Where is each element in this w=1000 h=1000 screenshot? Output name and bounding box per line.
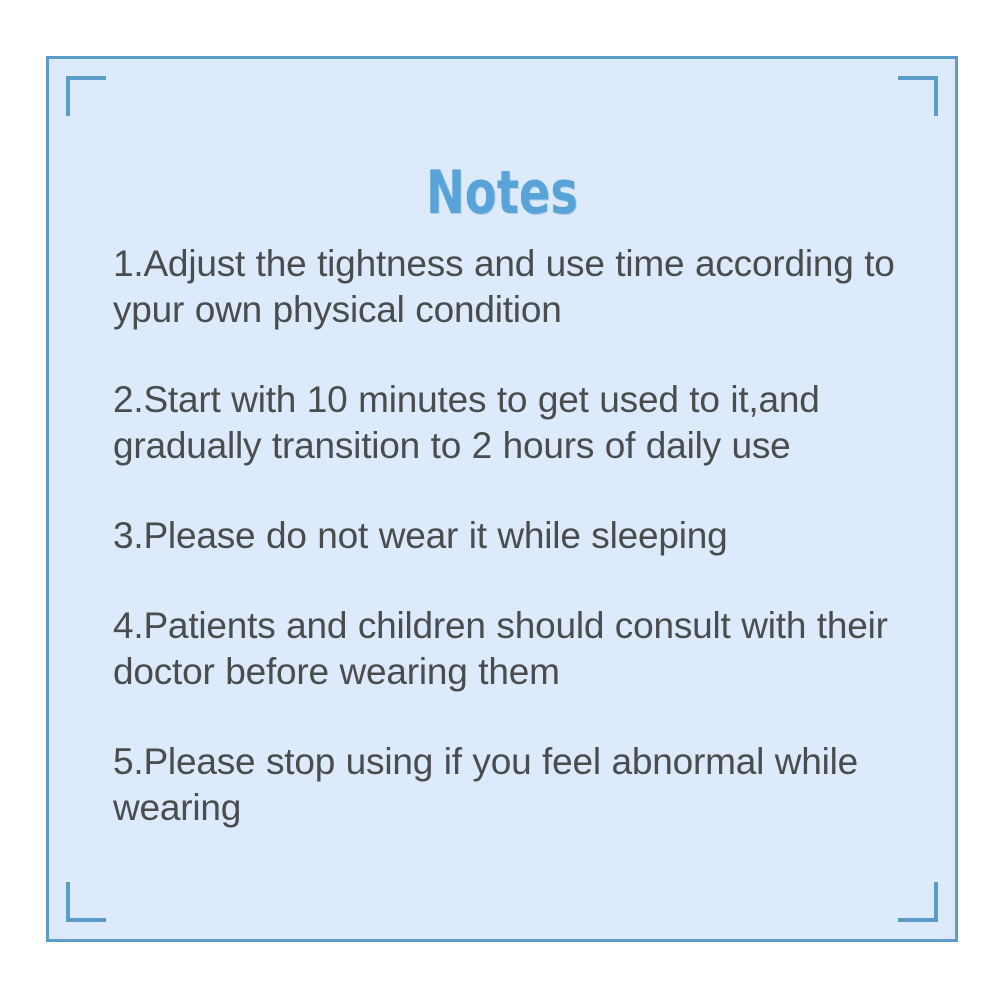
list-item: 4.Patients and children should consult w… [113,603,907,695]
list-item: 5.Please stop using if you feel abnormal… [113,739,907,831]
notes-list: 1.Adjust the tightness and use time acco… [113,241,907,831]
notes-panel: Notes 1.Adjust the tightness and use tim… [46,56,958,942]
corner-bracket-top-left-icon [66,76,106,116]
corner-bracket-top-right-icon [898,76,938,116]
corner-bracket-bottom-left-icon [66,882,106,922]
list-item: 3.Please do not wear it while sleeping [113,513,907,559]
page-canvas: Notes 1.Adjust the tightness and use tim… [0,0,1000,1000]
list-item: 1.Adjust the tightness and use time acco… [113,241,907,333]
list-item: 2.Start with 10 minutes to get used to i… [113,377,907,469]
corner-bracket-bottom-right-icon [898,882,938,922]
page-title: Notes [112,161,891,225]
